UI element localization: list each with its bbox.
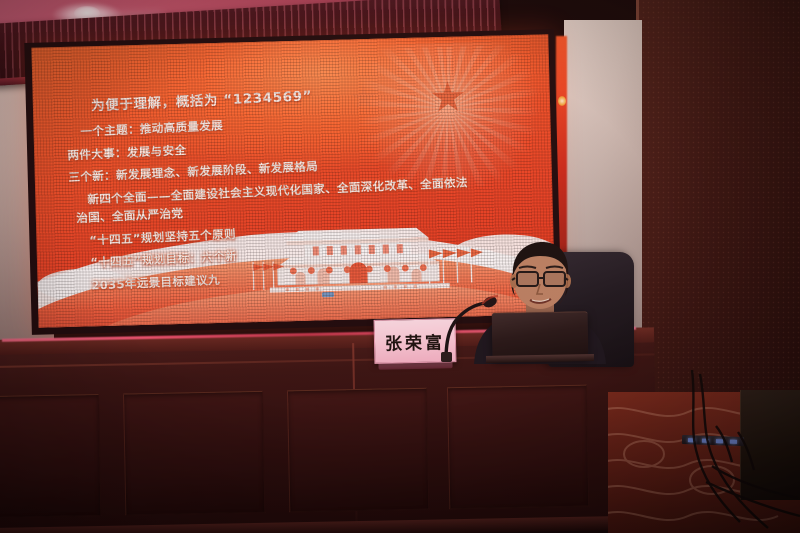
- laptop[interactable]: [492, 311, 589, 360]
- wall-lamp-icon: [558, 96, 566, 106]
- podium-panel: [0, 394, 101, 519]
- cable-bundle: [620, 370, 800, 533]
- podium-panel: [123, 391, 265, 516]
- placard-name-text: 张荣富: [385, 328, 446, 354]
- acoustic-panel-wall: [636, 0, 800, 395]
- podium-panel: [287, 388, 429, 513]
- conference-hall-photo: 为便于理解，概括为 “1234569” 一个主题：推动高质量发展 两件大事：发展…: [0, 0, 800, 533]
- perforation-texture: [636, 0, 800, 395]
- podium-base: [0, 515, 658, 533]
- podium-panel: [447, 385, 589, 510]
